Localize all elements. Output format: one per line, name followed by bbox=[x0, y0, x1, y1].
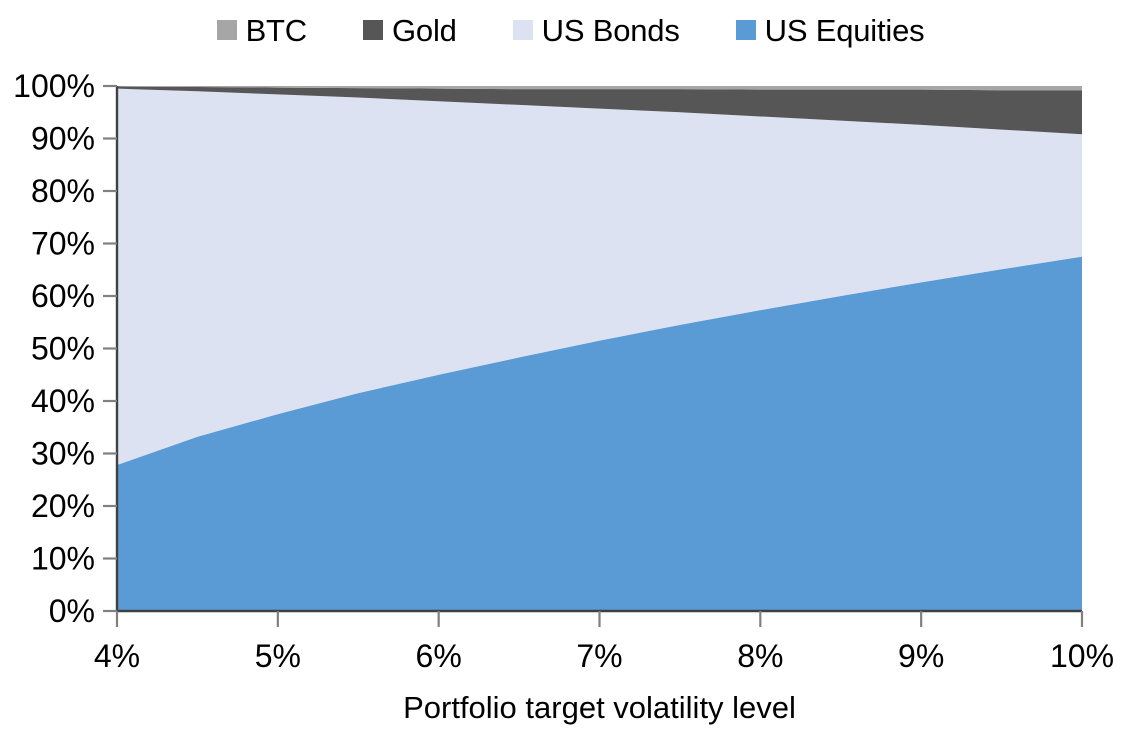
y-tick-label: 90% bbox=[31, 121, 95, 157]
x-tick-label: 5% bbox=[255, 638, 301, 674]
plot-area: 0%10%20%30%40%50%60%70%80%90%100% 4%5%6%… bbox=[0, 0, 1141, 742]
y-tick-label: 80% bbox=[31, 173, 95, 209]
y-tick-label: 30% bbox=[31, 436, 95, 472]
y-tick-label: 40% bbox=[31, 383, 95, 419]
y-tick-label: 50% bbox=[31, 331, 95, 367]
y-tick-label: 10% bbox=[31, 541, 95, 577]
stacked-area-chart: 0%10%20%30%40%50%60%70%80%90%100% 4%5%6%… bbox=[0, 0, 1141, 742]
x-axis-tick-labels: 4%5%6%7%8%9%10% bbox=[94, 638, 1114, 674]
x-tick-label: 10% bbox=[1050, 638, 1114, 674]
y-tick-label: 100% bbox=[13, 68, 95, 104]
x-tick-label: 4% bbox=[94, 638, 140, 674]
y-tick-label: 60% bbox=[31, 278, 95, 314]
x-tick-label: 6% bbox=[416, 638, 462, 674]
x-tick-label: 8% bbox=[737, 638, 783, 674]
y-tick-label: 20% bbox=[31, 488, 95, 524]
x-tick-label: 7% bbox=[576, 638, 622, 674]
y-axis-tick-labels: 0%10%20%30%40%50%60%70%80%90%100% bbox=[13, 68, 95, 629]
y-tick-label: 70% bbox=[31, 226, 95, 262]
x-tick-label: 9% bbox=[898, 638, 944, 674]
area-series-group bbox=[117, 86, 1082, 611]
y-axis-ticks bbox=[103, 86, 117, 611]
x-axis-title: Portfolio target volatility level bbox=[403, 690, 796, 725]
y-tick-label: 0% bbox=[49, 593, 95, 629]
x-axis-ticks bbox=[117, 611, 1082, 627]
chart-container: BTC Gold US Bonds US Equities bbox=[0, 0, 1141, 742]
